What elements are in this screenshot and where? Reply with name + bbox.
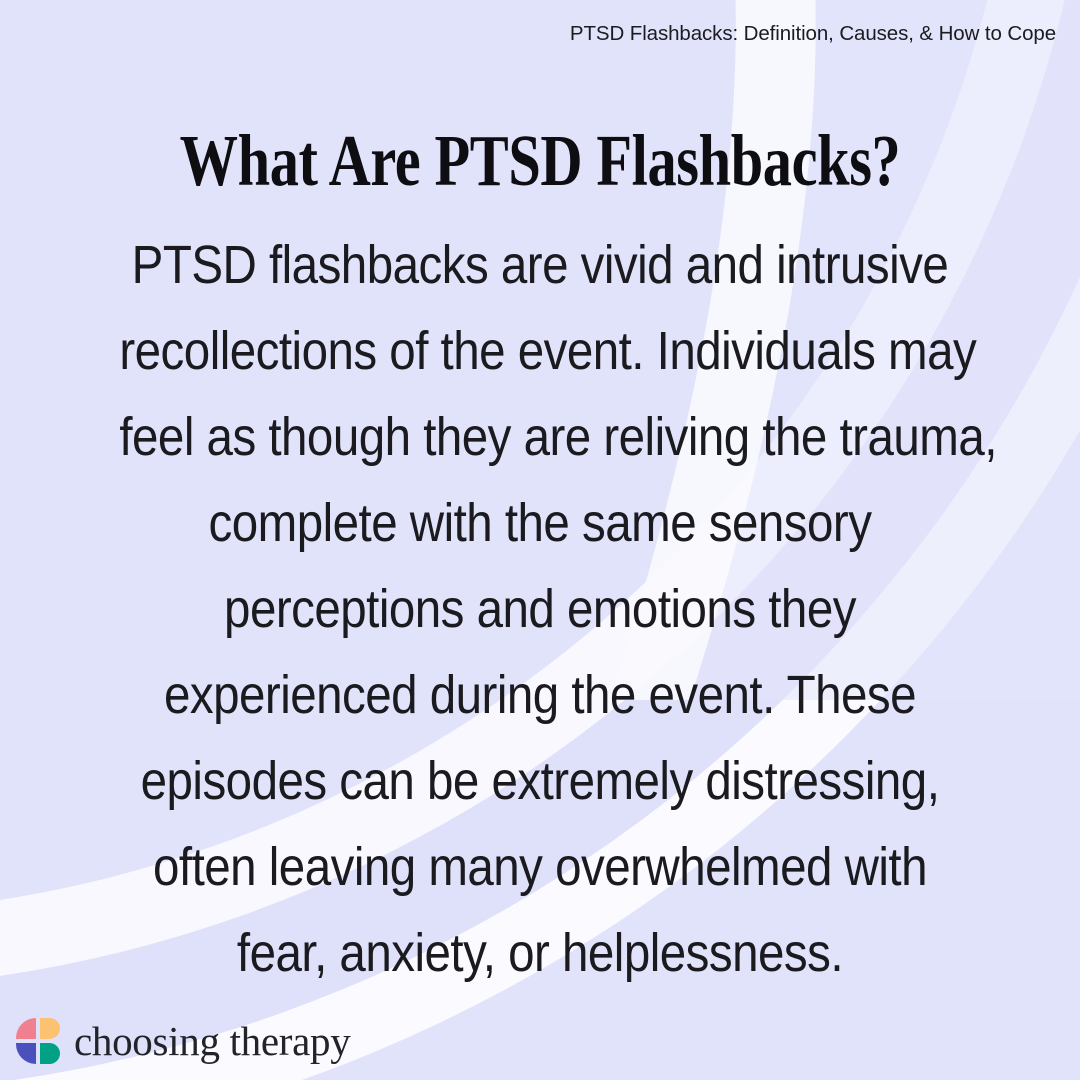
body-line: fear, anxiety, or helplessness. (119, 910, 960, 996)
body-line: perceptions and emotions they (119, 566, 960, 652)
body-line: feel as though they are reliving the tra… (119, 394, 960, 480)
logo-quadrant-top-right (40, 1018, 60, 1039)
logo-quadrant-top-left (16, 1018, 36, 1039)
social-card: PTSD Flashbacks: Definition, Causes, & H… (0, 0, 1080, 1080)
brand-logo[interactable]: choosing therapy (16, 1018, 350, 1064)
page-title: What Are PTSD Flashbacks? (108, 124, 972, 197)
choosing-therapy-logo-icon (16, 1018, 60, 1064)
body-line: often leaving many overwhelmed with (119, 824, 960, 910)
brand-wordmark: choosing therapy (74, 1021, 350, 1062)
body-line: experienced during the event. These (119, 652, 960, 738)
body-line: PTSD flashbacks are vivid and intrusive (119, 222, 960, 308)
logo-quadrant-bottom-right (40, 1043, 60, 1064)
article-title-kicker: PTSD Flashbacks: Definition, Causes, & H… (570, 22, 1056, 46)
body-line: episodes can be extremely distressing, (119, 738, 960, 824)
logo-quadrant-bottom-left (16, 1043, 36, 1064)
body-line: complete with the same sensory (119, 480, 960, 566)
body-copy: PTSD flashbacks are vivid and intrusive … (62, 222, 1018, 996)
body-line: recollections of the event. Individuals … (119, 308, 960, 394)
